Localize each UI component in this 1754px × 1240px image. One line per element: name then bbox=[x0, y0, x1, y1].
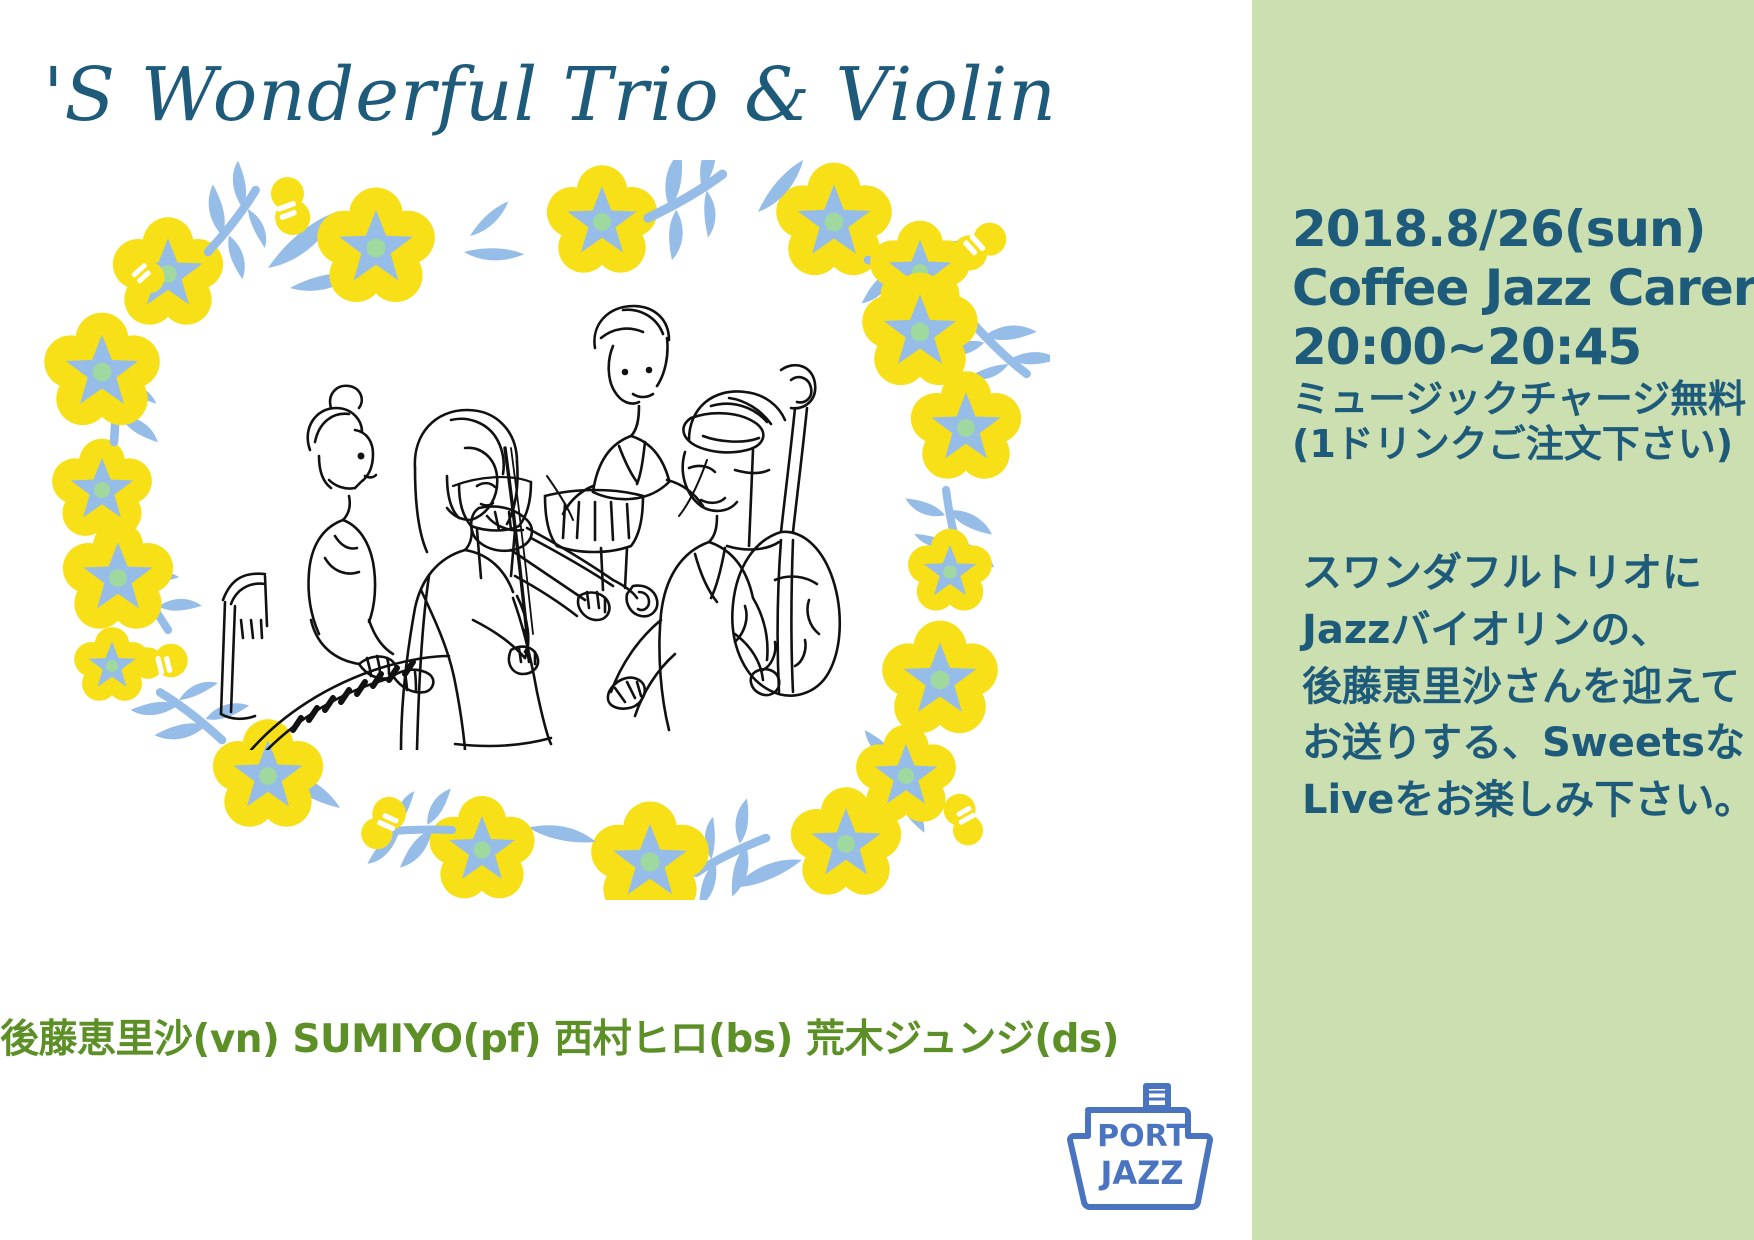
event-time: 20:00~20:45 bbox=[1292, 318, 1722, 377]
poster-root: 'S Wonderful Trio & Violin bbox=[0, 0, 1754, 1240]
port-jazz-logo[interactable]: PORT JAZZ bbox=[1062, 1080, 1222, 1225]
description-line: Jazzバイオリンの、 bbox=[1302, 602, 1722, 659]
description-line: Liveをお楽しみ下さい。 bbox=[1302, 772, 1722, 829]
poster-title: 'S Wonderful Trio & Violin bbox=[0, 52, 1100, 138]
event-details: 2018.8/26(sun) Coffee Jazz Carerra 20:00… bbox=[1292, 200, 1722, 467]
logo-text-jazz: JAZZ bbox=[1098, 1154, 1183, 1192]
description-line: 後藤恵里沙さんを迎えて bbox=[1302, 659, 1722, 716]
event-date: 2018.8/26(sun) bbox=[1292, 200, 1722, 259]
event-venue: Coffee Jazz Carerra bbox=[1292, 259, 1722, 318]
logo-text-port: PORT bbox=[1097, 1119, 1187, 1154]
bassist-figure bbox=[608, 365, 840, 730]
description-line: スワンダフルトリオに bbox=[1302, 545, 1722, 602]
performer-credits: 後藤恵里沙(vn) SUMIYO(pf) 西村ヒロ(bs) 荒木ジュンジ(ds) bbox=[0, 1008, 1115, 1064]
main-artwork-panel: 'S Wonderful Trio & Violin bbox=[0, 0, 1252, 1240]
description-line: お送りする、Sweetsな bbox=[1302, 715, 1722, 772]
jazz-quartet-illustration bbox=[215, 290, 895, 750]
event-charge: ミュージックチャージ無料 bbox=[1292, 377, 1722, 422]
event-description: スワンダフルトリオに Jazzバイオリンの、 後藤恵里沙さんを迎えて お送りする… bbox=[1302, 545, 1722, 829]
event-charge-note: (1ドリンクご注文下さい) bbox=[1292, 422, 1722, 467]
pianist-figure bbox=[221, 386, 449, 750]
violinist-figure bbox=[401, 410, 657, 750]
event-info-panel: 2018.8/26(sun) Coffee Jazz Carerra 20:00… bbox=[1252, 0, 1754, 1240]
